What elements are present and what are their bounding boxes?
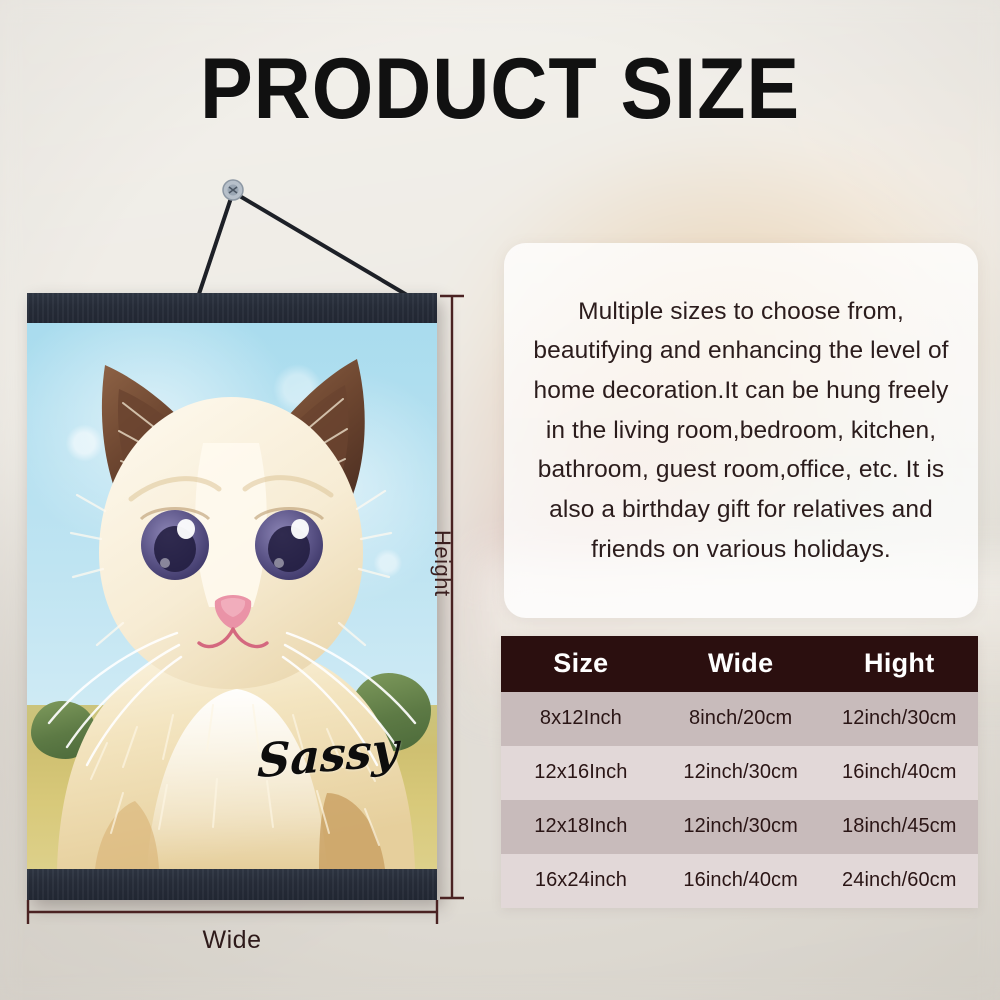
width-label: Wide xyxy=(27,926,437,955)
size-table-cell-hight: 16inch/40cm xyxy=(821,746,978,800)
dimension-lines xyxy=(0,0,500,1000)
description-card: Multiple sizes to choose from, beautifyi… xyxy=(504,243,978,618)
size-table-cell-size: 16x24inch xyxy=(501,854,661,908)
height-label: Height xyxy=(429,530,455,597)
size-table-cell-size: 8x12Inch xyxy=(501,692,661,746)
hanging-poster-product: Sassy Height Wide xyxy=(0,0,500,1000)
size-table-cell-wide: 12inch/30cm xyxy=(661,746,821,800)
size-table-header-row: Size Wide Hight xyxy=(501,636,978,692)
dimension-annotations: Height Wide xyxy=(0,0,500,1000)
size-table: Size Wide Hight 8x12Inch8inch/20cm12inch… xyxy=(501,636,978,908)
size-table-cell-size: 12x16Inch xyxy=(501,746,661,800)
table-row[interactable]: 12x18Inch12inch/30cm18inch/45cm xyxy=(501,800,978,854)
size-table-body: 8x12Inch8inch/20cm12inch/30cm12x16Inch12… xyxy=(501,692,978,908)
page-title: PRODUCT SIZE xyxy=(40,46,960,132)
size-table-header-size: Size xyxy=(501,636,661,692)
size-table-cell-hight: 18inch/45cm xyxy=(821,800,978,854)
size-table-cell-wide: 8inch/20cm xyxy=(661,692,821,746)
size-table-cell-wide: 12inch/30cm xyxy=(661,800,821,854)
table-row[interactable]: 8x12Inch8inch/20cm12inch/30cm xyxy=(501,692,978,746)
size-table-header-wide: Wide xyxy=(661,636,821,692)
table-row[interactable]: 12x16Inch12inch/30cm16inch/40cm xyxy=(501,746,978,800)
size-table-header-hight: Hight xyxy=(821,636,978,692)
description-text: Multiple sizes to choose from, beautifyi… xyxy=(526,292,956,570)
size-table-cell-size: 12x18Inch xyxy=(501,800,661,854)
size-table-cell-hight: 24inch/60cm xyxy=(821,854,978,908)
size-table-cell-wide: 16inch/40cm xyxy=(661,854,821,908)
table-row[interactable]: 16x24inch16inch/40cm24inch/60cm xyxy=(501,854,978,908)
size-table-cell-hight: 12inch/30cm xyxy=(821,692,978,746)
